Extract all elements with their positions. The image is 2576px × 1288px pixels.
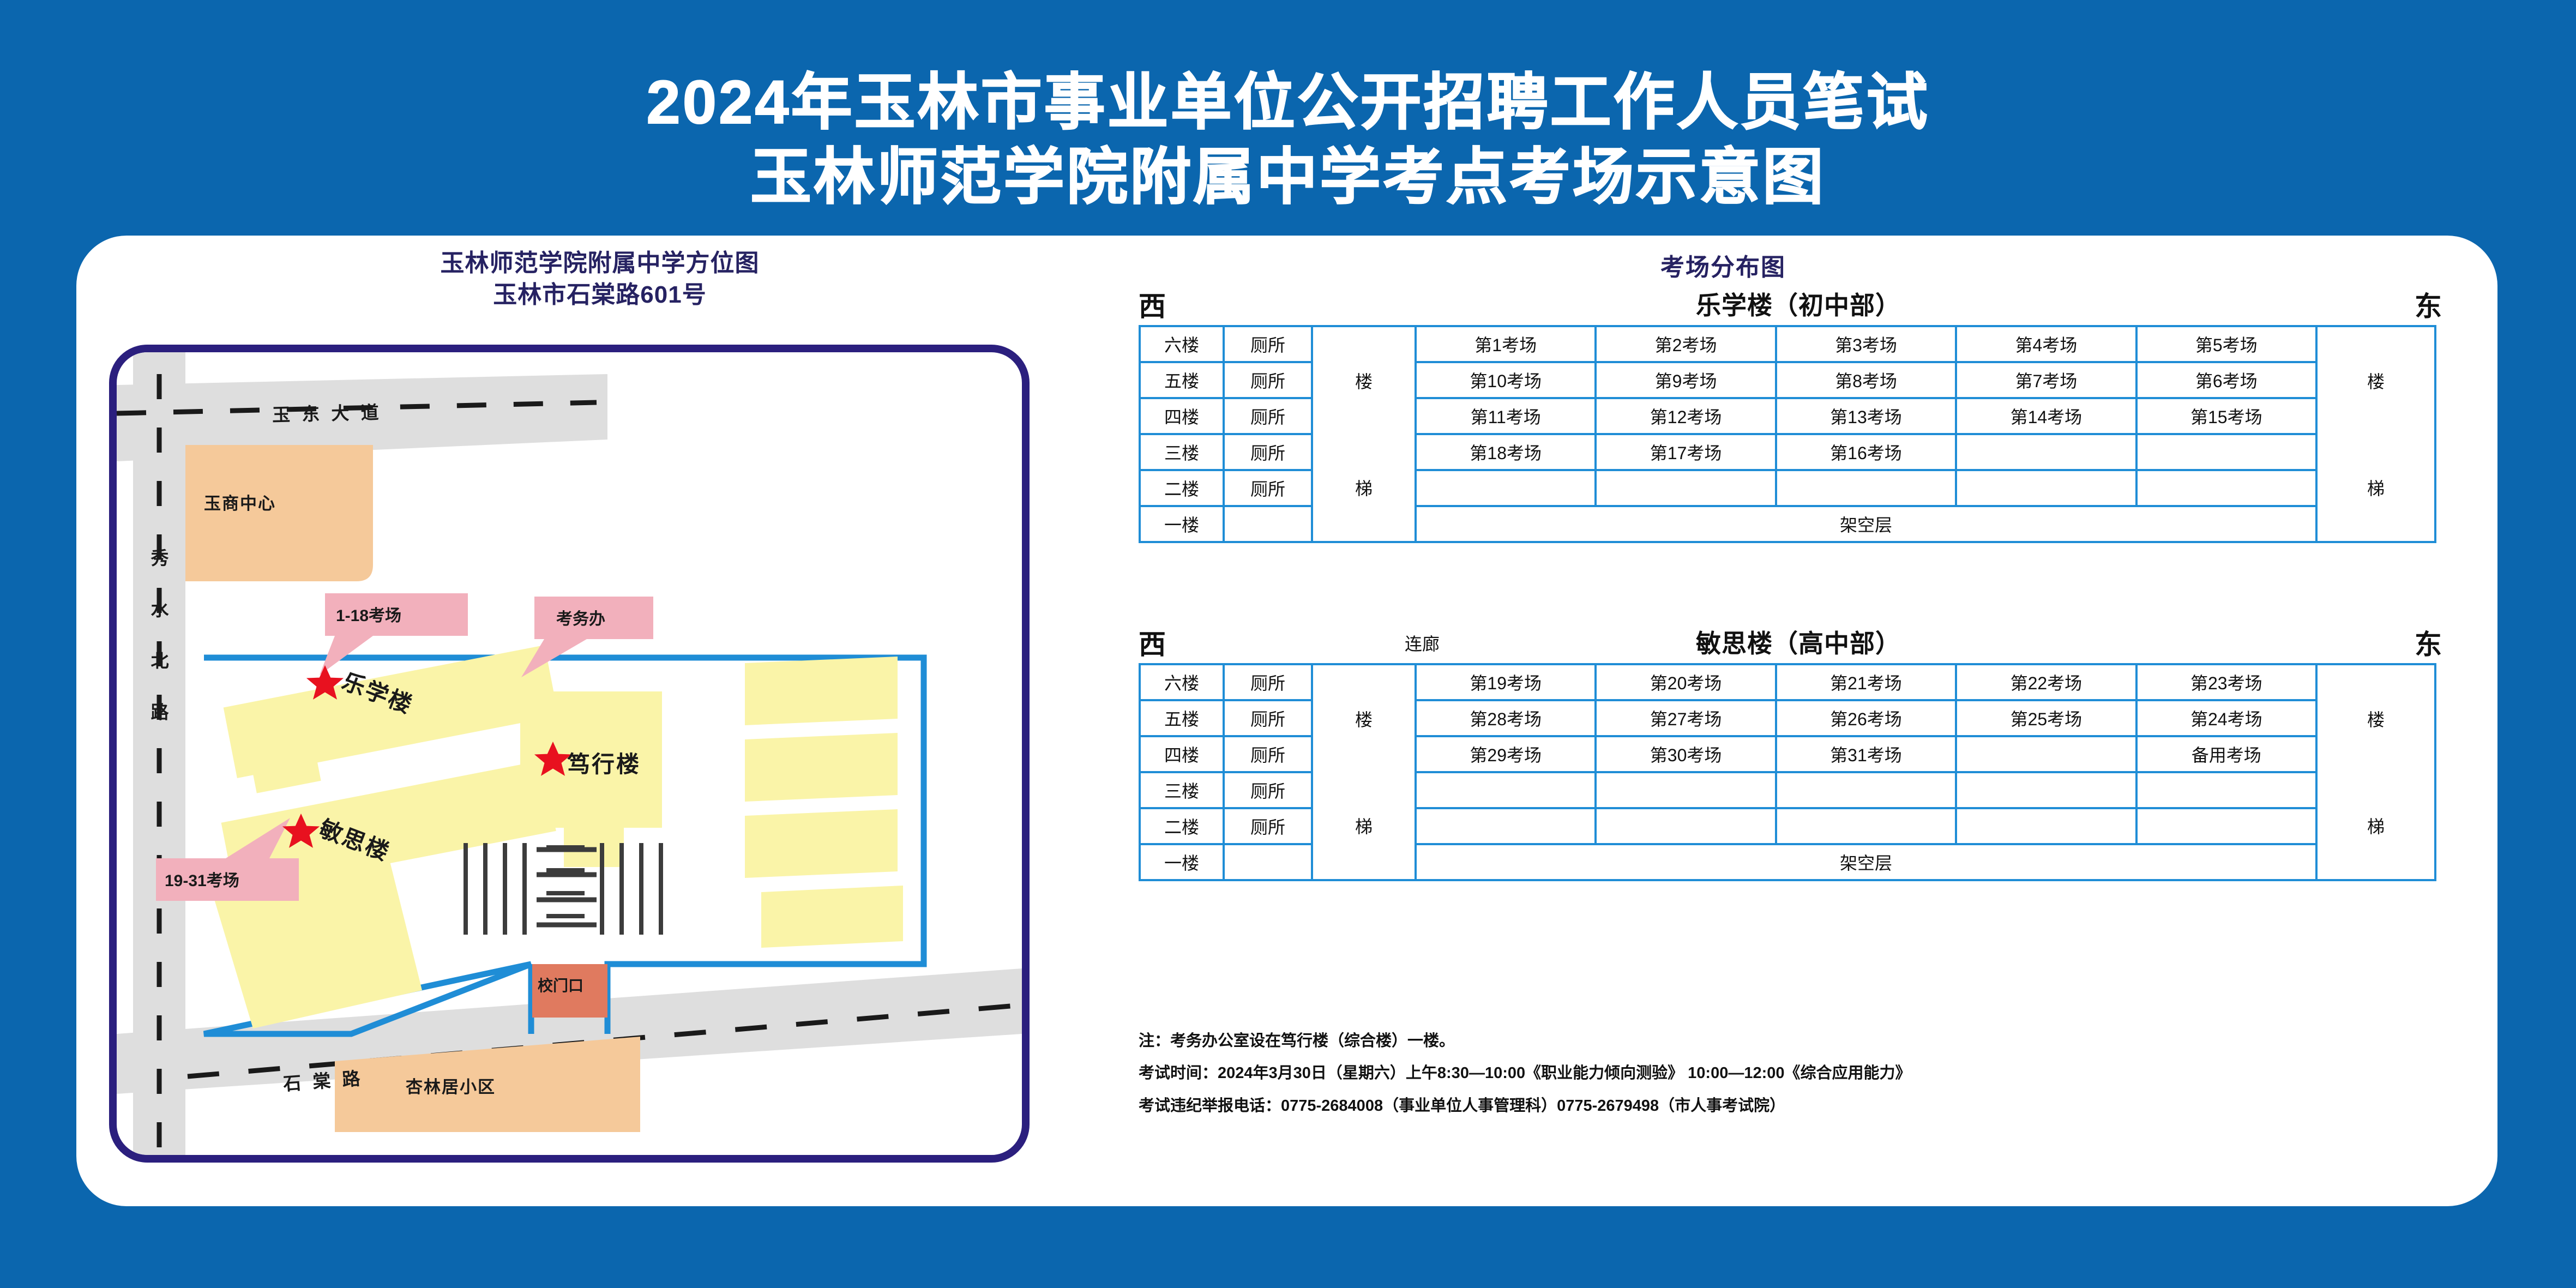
stair-char-top: 楼	[1313, 706, 1415, 731]
title-line-1: 2024年玉林市事业单位公开招聘工作人员笔试	[0, 65, 2576, 140]
stair-char-top: 楼	[2318, 368, 2434, 393]
stairway-left-minsi: 楼 梯	[1312, 664, 1416, 880]
content-card: 玉林师范学院附属中学方位图 玉林市石棠路601号	[76, 236, 2497, 1206]
mall-block-shape	[185, 445, 373, 581]
exam-room-cell: 第31考场	[1776, 736, 1956, 772]
restroom-cell: 厕所	[1224, 736, 1312, 772]
building-right-4	[761, 886, 903, 948]
page-title: 2024年玉林市事业单位公开招聘工作人员笔试 玉林师范学院附属中学考点考场示意图	[0, 65, 2576, 214]
restroom-cell: 厕所	[1224, 664, 1312, 700]
building-right-2	[745, 733, 898, 802]
building-right-3	[745, 809, 898, 878]
exam-room-cell: 第4考场	[1956, 326, 2136, 362]
stair-char-top: 楼	[2318, 706, 2434, 731]
exam-room-cell	[2136, 772, 2316, 808]
hollow-floor-cell: 架空层	[1416, 506, 2316, 542]
footnote-note: 注：考务办公室设在笃行楼（综合楼）一楼。	[1139, 1025, 2469, 1057]
footnote-exam-time: 考试时间：2024年3月30日（星期六）上午8:30—10:00《职业能力倾向测…	[1139, 1057, 2469, 1090]
direction-east-minsi: 东	[2415, 623, 2442, 662]
exam-room-cell	[2136, 808, 2316, 844]
map-heading: 玉林师范学院附属中学方位图 玉林市石棠路601号	[76, 248, 1123, 311]
exam-room-cell: 第6考场	[2136, 362, 2316, 398]
floor-label: 四楼	[1140, 736, 1224, 772]
stair-char-bottom: 梯	[2318, 475, 2434, 500]
stair-char-bottom: 梯	[1313, 475, 1415, 500]
exam-room-cell	[1776, 772, 1956, 808]
exam-room-cell	[1776, 808, 1956, 844]
hollow-floor-cell: 架空层	[1416, 844, 2316, 880]
exam-room-cell	[1956, 772, 2136, 808]
campus-map-svg	[117, 352, 1022, 1155]
restroom-cell	[1224, 506, 1312, 542]
floor-label: 六楼	[1140, 664, 1224, 700]
exam-room-cell: 第22考场	[1956, 664, 2136, 700]
restroom-cell: 厕所	[1224, 700, 1312, 736]
restroom-cell: 厕所	[1224, 772, 1312, 808]
footnotes: 注：考务办公室设在笃行楼（综合楼）一楼。 考试时间：2024年3月30日（星期六…	[1139, 1025, 2469, 1122]
table-row: 六楼 厕所 楼 梯 第19考场 第20考场 第21考场 第22考场 第23考场	[1140, 664, 2435, 700]
exam-room-cell: 第27考场	[1596, 700, 1775, 736]
exam-room-cell: 第20考场	[1596, 664, 1775, 700]
exam-room-cell: 第12考场	[1596, 398, 1775, 434]
tables-panel: 考场分布图 西 乐学楼（初中部） 东 六楼 厕所 楼 梯	[1123, 236, 2497, 1206]
table-header-minsi: 西 连廊 敏思楼（高中部） 东	[1139, 623, 2458, 663]
map-frame: 玉 东 大 道 秀 水 北 路 石 棠 路 玉商中心 杏林居小区 校门口 乐学楼…	[109, 345, 1030, 1163]
stair-char-bottom: 梯	[1313, 813, 1415, 838]
exam-room-cell: 第2考场	[1596, 326, 1775, 362]
exam-room-cell	[1596, 470, 1775, 506]
exam-room-cell: 第9考场	[1596, 362, 1775, 398]
floor-label: 五楼	[1140, 700, 1224, 736]
map-panel: 玉林师范学院附属中学方位图 玉林市石棠路601号	[76, 236, 1123, 1206]
exam-room-cell: 第19考场	[1416, 664, 1596, 700]
floor-label: 二楼	[1140, 470, 1224, 506]
exam-room-cell: 备用考场	[2136, 736, 2316, 772]
gate-shape	[532, 964, 607, 1018]
exam-room-cell: 第10考场	[1416, 362, 1596, 398]
restroom-cell: 厕所	[1224, 398, 1312, 434]
callout-1-18	[320, 593, 468, 675]
floor-label: 四楼	[1140, 398, 1224, 434]
map-heading-line-1: 玉林师范学院附属中学方位图	[76, 248, 1123, 279]
table-block-lexue: 西 乐学楼（初中部） 东 六楼 厕所 楼 梯 第1考场 第2考场 第	[1139, 285, 2458, 543]
exam-room-cell	[1776, 470, 1956, 506]
exam-room-cell: 第15考场	[2136, 398, 2316, 434]
floor-label: 三楼	[1140, 772, 1224, 808]
floor-label: 五楼	[1140, 362, 1224, 398]
exam-room-cell: 第1考场	[1416, 326, 1596, 362]
exam-room-cell: 第16考场	[1776, 434, 1956, 470]
map-heading-line-2: 玉林市石棠路601号	[76, 279, 1123, 311]
exam-room-cell: 第29考场	[1416, 736, 1596, 772]
building-name-minsi: 敏思楼（高中部）	[1139, 624, 2458, 660]
exam-room-cell	[1956, 470, 2136, 506]
restroom-cell: 厕所	[1224, 362, 1312, 398]
exam-room-cell	[1596, 808, 1775, 844]
exam-room-cell: 第30考场	[1596, 736, 1775, 772]
stairway-right-lexue: 楼 梯	[2316, 326, 2435, 542]
table-header-lexue: 西 乐学楼（初中部） 东	[1139, 285, 2458, 325]
callout-kaowuban	[521, 597, 653, 677]
tables-heading: 考场分布图	[1123, 248, 2323, 282]
exam-room-cell	[2136, 470, 2316, 506]
exam-room-cell: 第24考场	[2136, 700, 2316, 736]
restroom-cell: 厕所	[1224, 326, 1312, 362]
exam-room-cell: 第23考场	[2136, 664, 2316, 700]
exam-room-cell: 第13考场	[1776, 398, 1956, 434]
exam-room-cell: 第21考场	[1776, 664, 1956, 700]
exam-room-cell: 第25考场	[1956, 700, 2136, 736]
exam-room-cell	[2136, 434, 2316, 470]
stairway-left-lexue: 楼 梯	[1312, 326, 1416, 542]
table-row: 六楼 厕所 楼 梯 第1考场 第2考场 第3考场 第4考场 第5考场	[1140, 326, 2435, 362]
exam-room-cell	[1416, 470, 1596, 506]
footnote-hotline: 考试违纪举报电话：0775-2684008（事业单位人事管理科）0775-267…	[1139, 1090, 2469, 1122]
floor-label: 二楼	[1140, 808, 1224, 844]
direction-east-lexue: 东	[2415, 285, 2442, 324]
exam-room-cell	[1956, 736, 2136, 772]
floor-table-lexue: 六楼 厕所 楼 梯 第1考场 第2考场 第3考场 第4考场 第5考场	[1139, 325, 2436, 543]
stair-char-top: 楼	[1313, 368, 1415, 393]
exam-room-cell: 第5考场	[2136, 326, 2316, 362]
restroom-cell	[1224, 844, 1312, 880]
floor-label: 三楼	[1140, 434, 1224, 470]
exam-room-cell: 第17考场	[1596, 434, 1775, 470]
title-line-2: 玉林师范学院附属中学考点考场示意图	[0, 140, 2576, 215]
exam-room-cell: 第3考场	[1776, 326, 1956, 362]
sports-field	[466, 843, 661, 935]
table-block-minsi: 西 连廊 敏思楼（高中部） 东 六楼 厕所 楼 梯 第19考场 第20考	[1139, 623, 2458, 881]
exam-room-cell: 第26考场	[1776, 700, 1956, 736]
exam-room-cell: 第28考场	[1416, 700, 1596, 736]
exam-room-cell	[1956, 434, 2136, 470]
exam-room-cell	[1956, 808, 2136, 844]
exam-room-cell: 第7考场	[1956, 362, 2136, 398]
exam-room-cell	[1596, 772, 1775, 808]
building-right-1	[745, 657, 898, 725]
floor-label: 六楼	[1140, 326, 1224, 362]
exam-room-cell: 第8考场	[1776, 362, 1956, 398]
floor-label: 一楼	[1140, 844, 1224, 880]
exam-room-cell: 第18考场	[1416, 434, 1596, 470]
floor-table-minsi: 六楼 厕所 楼 梯 第19考场 第20考场 第21考场 第22考场 第23考场	[1139, 663, 2436, 881]
exam-room-cell	[1416, 808, 1596, 844]
exam-room-cell	[1416, 772, 1596, 808]
building-name-lexue: 乐学楼（初中部）	[1139, 286, 2458, 322]
stairway-right-minsi: 楼 梯	[2316, 664, 2435, 880]
stair-char-bottom: 梯	[2318, 813, 2434, 838]
exam-room-cell: 第14考场	[1956, 398, 2136, 434]
restroom-cell: 厕所	[1224, 470, 1312, 506]
floor-label: 一楼	[1140, 506, 1224, 542]
restroom-cell: 厕所	[1224, 808, 1312, 844]
exam-room-cell: 第11考场	[1416, 398, 1596, 434]
restroom-cell: 厕所	[1224, 434, 1312, 470]
